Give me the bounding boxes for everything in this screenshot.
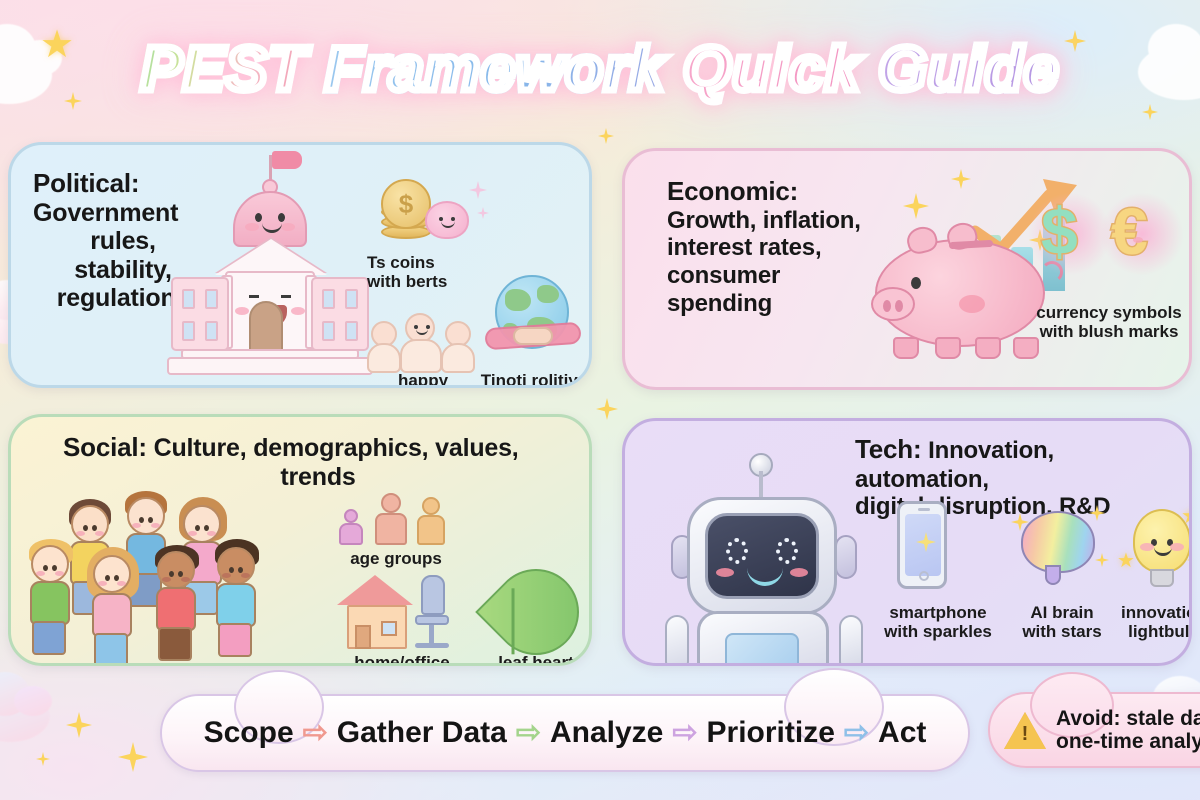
panel-political[interactable]: Political: Government rules, stability, … [8, 142, 592, 388]
euro-symbol-icon: € [1111, 193, 1148, 269]
warning-text: Avoid: stale data, one-time analys [1056, 707, 1200, 753]
caption-lightbulb: innovation lightbulb [1109, 603, 1192, 641]
page-title-wrapper: PEST Framework Quick Guide [0, 34, 1200, 105]
social-heading-label: Social: [63, 432, 147, 462]
flow-step-gather-data[interactable]: Gather Data [337, 716, 507, 750]
currency-symbols-group: $ € [1029, 185, 1189, 295]
ai-brain-icon [1011, 505, 1111, 597]
social-heading: Social: Culture, demographics, values, t… [63, 433, 533, 491]
flow-arrow-icon-2: ⇨ [516, 718, 541, 748]
sparkle-icon-center [596, 398, 618, 420]
flow-step-act[interactable]: Act [878, 716, 926, 750]
panel-tech[interactable]: Tech: Innovation, automation, digital di… [622, 418, 1192, 666]
sparkle-icon-bottom-left [66, 712, 92, 738]
title-word-guide: Guide [879, 35, 1060, 104]
flow-arrow-icon-4: ⇨ [844, 718, 869, 748]
caption-coins: Ts coins with berts [367, 253, 497, 291]
infographic-poster: ★ PEST Framework Quick Guide Political: … [0, 0, 1200, 800]
social-heading-body: Culture, demographics, values, [154, 434, 519, 462]
page-title: PEST Framework Quick Guide [141, 34, 1059, 105]
warning-line-2: one-time analys [1056, 730, 1200, 753]
flow-arrow-icon-1: ⇨ [303, 718, 328, 748]
flow-step-analyze[interactable]: Analyze [550, 716, 663, 750]
sparkle-icon-top-right-2 [1142, 104, 1158, 120]
diverse-children-icon [15, 495, 315, 663]
title-word-pest: PEST [141, 35, 307, 104]
flow-step-prioritize[interactable]: Prioritize [707, 716, 835, 750]
dollar-symbol-icon: $ [1041, 193, 1078, 269]
house-icon [341, 575, 409, 651]
caption-currency-symbols: currency symbols with blush marks [1017, 303, 1192, 341]
leaf-heart-icon [481, 565, 591, 659]
economic-heading-label: Economic: [667, 177, 897, 207]
sparkle-icon-bottom-left-3 [36, 752, 50, 766]
caption-age-groups: age groups [331, 549, 461, 568]
caption-ai-brain: AI brain with stars [1003, 603, 1121, 641]
happy-workers-icon [367, 303, 479, 367]
caption-smartphone: smartphone with sparkles [867, 603, 1009, 641]
smartphone-icon [887, 501, 957, 601]
title-word-framework: Framework [325, 35, 665, 104]
title-word-quick: Quick [683, 35, 860, 104]
lightbulb-icon: ★ ★ [1111, 499, 1192, 597]
sparkle-icon-center-top [598, 128, 614, 144]
globe-handshake-icon [481, 273, 585, 367]
coin-stack-icon: $ [377, 179, 487, 249]
caption-globe-handshake: Tinoti rolitiys (ngktiosiadr) [463, 371, 592, 388]
caption-home-office: home/office [329, 653, 475, 666]
age-group-figures-icon [339, 493, 459, 545]
sparkle-icon-bottom-left-2 [118, 742, 148, 772]
caption-leaf-heart: leaf heart [473, 653, 592, 666]
process-flow-bar[interactable]: Scope ⇨ Gather Data ⇨ Analyze ⇨ Prioriti… [160, 694, 970, 772]
social-line-2: trends [63, 463, 533, 492]
flow-step-scope[interactable]: Scope [204, 716, 294, 750]
office-chair-icon [413, 575, 459, 653]
panel-economic[interactable]: Economic: Growth, inflation, interest ra… [622, 148, 1192, 390]
flow-arrow-icon-3: ⇨ [672, 718, 697, 748]
warning-triangle-icon [1004, 712, 1046, 749]
cloud-decoration-bottom-left [0, 690, 50, 742]
panel-social[interactable]: Social: Culture, demographics, values, t… [8, 414, 592, 666]
warning-callout[interactable]: Avoid: stale data, one-time analys [988, 692, 1200, 768]
warning-line-1: Avoid: stale data, [1056, 707, 1200, 730]
robot-icon [649, 443, 879, 665]
capitol-building-icon [161, 185, 379, 375]
